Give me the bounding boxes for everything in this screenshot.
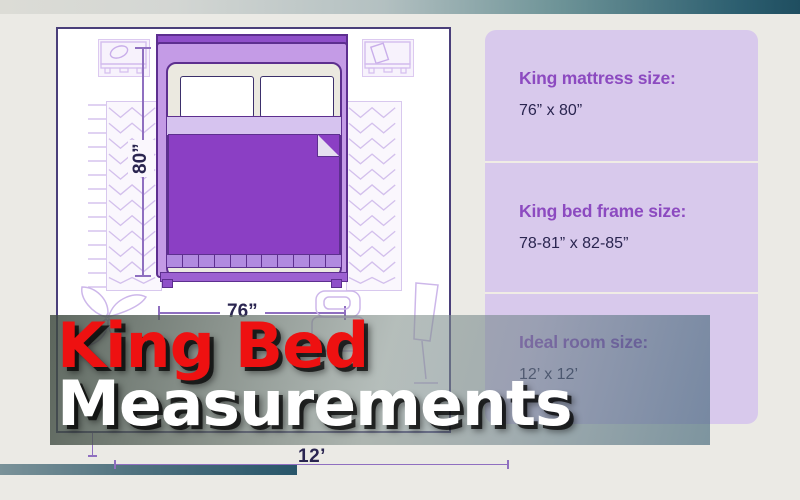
bed-leg-left (162, 279, 173, 288)
mattress-size-title: King mattress size: (519, 68, 758, 89)
frame-size-value: 78-81” x 82-85” (519, 235, 758, 253)
bed-frame (156, 42, 348, 278)
fringe-icon (88, 101, 106, 291)
rug-right (346, 101, 402, 291)
duvet (168, 134, 340, 266)
mattress-length-label: 80” (128, 140, 154, 177)
rug-left (106, 101, 162, 291)
room-width-label: 12’ (298, 446, 326, 468)
duvet-fold-corner (317, 134, 340, 157)
chevron-pattern-icon (347, 102, 401, 285)
bottom-gradient-bar (0, 464, 297, 475)
bed-base-rail (160, 272, 348, 282)
page-title: King Bed Measurements (57, 318, 757, 432)
pillow-right (260, 76, 334, 118)
frame-size-title: King bed frame size: (519, 201, 758, 222)
king-bed (156, 34, 348, 284)
title-line-2: Measurements (57, 376, 771, 432)
mattress-size-value: 76” x 80” (519, 102, 758, 120)
pillow-left (180, 76, 254, 118)
nightstand-icon (99, 40, 148, 75)
footboard-slats (166, 254, 342, 268)
top-gradient-bar (0, 0, 800, 14)
chevron-pattern-icon (107, 102, 161, 285)
rug-fringe-left (88, 101, 106, 291)
infographic-canvas: 12’ 12’ (0, 0, 800, 500)
nightstand-book-icon (363, 40, 412, 75)
sheet-band (166, 116, 342, 136)
measurement-row-mattress: King mattress size: 76” x 80” (485, 30, 758, 161)
measurement-row-frame: King bed frame size: 78-81” x 82-85” (485, 161, 758, 292)
title-line-1: King Bed (57, 318, 771, 374)
nightstand-right (362, 39, 414, 77)
